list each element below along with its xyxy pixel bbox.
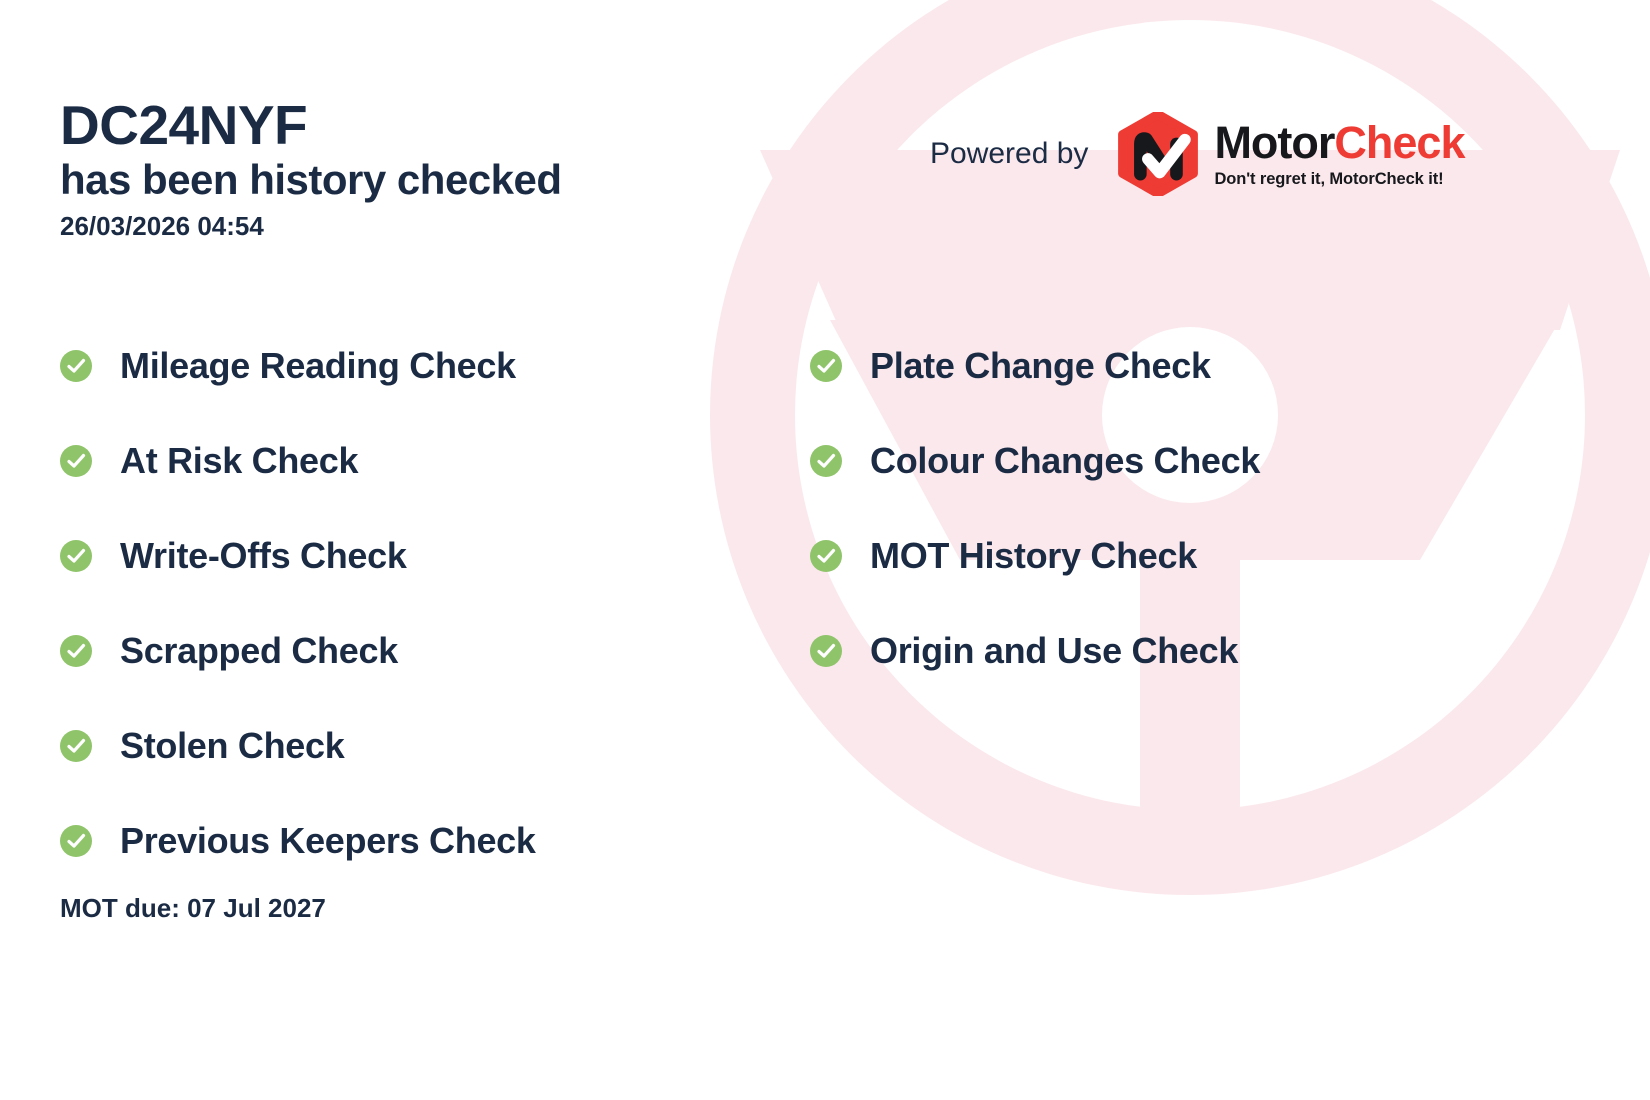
check-item-label: Origin and Use Check (870, 633, 1238, 669)
motorcheck-wordmark: MotorCheck (1214, 120, 1464, 165)
motorcheck-logo[interactable]: MotorCheck Don't regret it, MotorCheck i… (1116, 112, 1464, 196)
check-circle-icon (60, 350, 92, 382)
check-item: Stolen Check (60, 698, 810, 793)
brand-tagline: Don't regret it, MotorCheck it! (1214, 170, 1464, 189)
check-circle-icon (810, 635, 842, 667)
check-item: Scrapped Check (60, 603, 810, 698)
check-item-label: Previous Keepers Check (120, 823, 536, 859)
check-item-label: MOT History Check (870, 538, 1197, 574)
check-item-label: Plate Change Check (870, 348, 1211, 384)
check-item: Origin and Use Check (810, 603, 1510, 698)
check-circle-icon (60, 445, 92, 477)
powered-by-label: Powered by (930, 137, 1088, 171)
header: DC24NYF has been history checked 26/03/2… (60, 96, 562, 242)
check-item-label: Write-Offs Check (120, 538, 407, 574)
check-circle-icon (810, 445, 842, 477)
checks-column-left: Mileage Reading Check At Risk Check Writ… (60, 318, 810, 888)
check-item-label: Colour Changes Check (870, 443, 1260, 479)
check-circle-icon (60, 540, 92, 572)
check-item: Plate Change Check (810, 318, 1510, 413)
vehicle-history-check-card: DC24NYF has been history checked 26/03/2… (0, 0, 1650, 1100)
check-item-label: Stolen Check (120, 728, 344, 764)
check-circle-icon (60, 825, 92, 857)
check-timestamp: 26/03/2026 04:54 (60, 211, 562, 242)
wordmark-check: Check (1334, 117, 1464, 168)
check-item: Colour Changes Check (810, 413, 1510, 508)
check-circle-icon (810, 540, 842, 572)
checks-column-right: Plate Change Check Colour Changes Check … (810, 318, 1510, 888)
check-item: At Risk Check (60, 413, 810, 508)
page-title-registration: DC24NYF (60, 96, 562, 155)
check-item: Previous Keepers Check (60, 793, 810, 888)
motorcheck-hexagon-logo-icon (1116, 112, 1200, 196)
checks-container: Mileage Reading Check At Risk Check Writ… (60, 318, 1590, 888)
wordmark-motor: Motor (1214, 117, 1334, 168)
check-item-label: At Risk Check (120, 443, 358, 479)
check-item: Write-Offs Check (60, 508, 810, 603)
check-item: Mileage Reading Check (60, 318, 810, 413)
mot-due-text: MOT due: 07 Jul 2027 (60, 893, 326, 924)
check-circle-icon (60, 730, 92, 762)
check-circle-icon (60, 635, 92, 667)
check-item-label: Mileage Reading Check (120, 348, 516, 384)
check-circle-icon (810, 350, 842, 382)
check-item-label: Scrapped Check (120, 633, 398, 669)
powered-by-branding: Powered by MotorCheck Don't regret it, M… (930, 112, 1464, 196)
check-item: MOT History Check (810, 508, 1510, 603)
page-subtitle: has been history checked (60, 155, 562, 205)
